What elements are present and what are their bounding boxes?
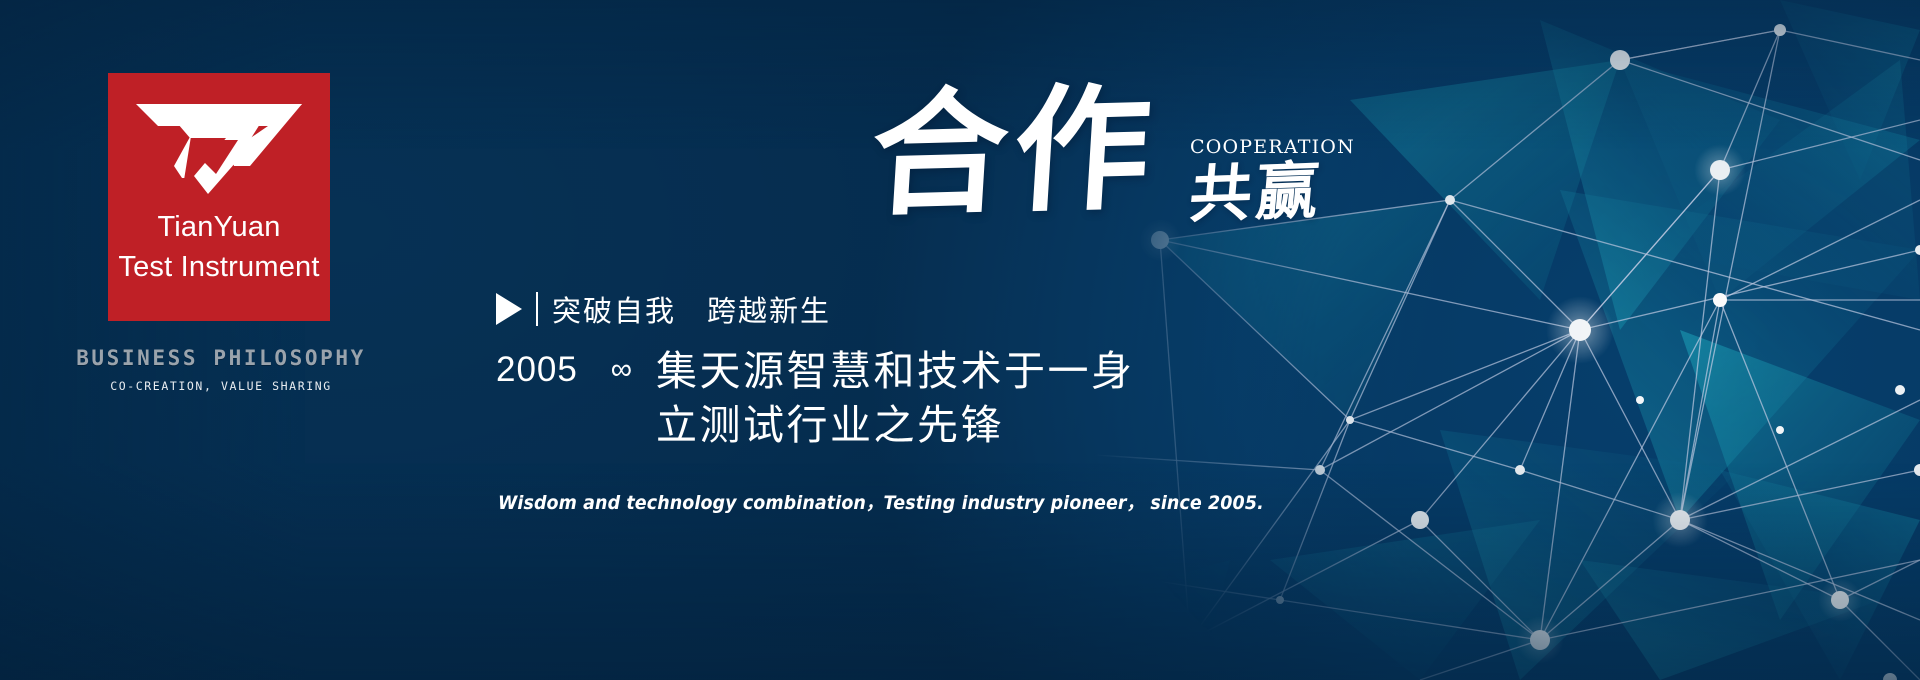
calligraphy-headline: 合作 COOPERATION 共赢 [872, 84, 1352, 269]
philosophy-subheading: CO-CREATION, VALUE SHARING [56, 379, 386, 393]
vertical-divider [536, 292, 538, 326]
english-tagline: Wisdom and technology combination，Testin… [498, 488, 1195, 515]
company-logo: TianYuan Test Instrument [108, 73, 330, 321]
founding-year-group: 2005 ∞ [496, 344, 656, 390]
slogan-kicker-row: 突破自我 跨越新生 [496, 288, 1256, 330]
calligraphy-main-text: 合作 [868, 80, 1161, 223]
logo-name-line-1: TianYuan [157, 213, 280, 243]
slogan-kicker: 突破自我 跨越新生 [552, 288, 831, 330]
slogan-lines: 集天源智慧和技术于一身 立测试行业之先锋 [656, 344, 1135, 452]
calligraphy-sub-text: 共赢 [1187, 160, 1325, 227]
slogan-line-1: 集天源智慧和技术于一身 [656, 344, 1135, 398]
ty-monogram-icon [134, 100, 304, 196]
slogan-block: 突破自我 跨越新生 2005 ∞ 集天源智慧和技术于一身 立测试行业之先锋 Wi… [496, 288, 1256, 515]
founding-year: 2005 [496, 350, 578, 389]
play-triangle-icon [496, 293, 522, 325]
philosophy-block: BUSINESS PHILOSOPHY CO-CREATION, VALUE S… [56, 346, 386, 393]
slogan-line-2: 立测试行业之先锋 [656, 398, 1135, 452]
infinity-icon: ∞ [611, 353, 633, 387]
hero-banner: TianYuan Test Instrument BUSINESS PHILOS… [0, 0, 1920, 680]
philosophy-heading: BUSINESS PHILOSOPHY [56, 346, 386, 370]
slogan-main-row: 2005 ∞ 集天源智慧和技术于一身 立测试行业之先锋 [496, 344, 1256, 452]
logo-name-line-2: Test Instrument [118, 253, 319, 283]
